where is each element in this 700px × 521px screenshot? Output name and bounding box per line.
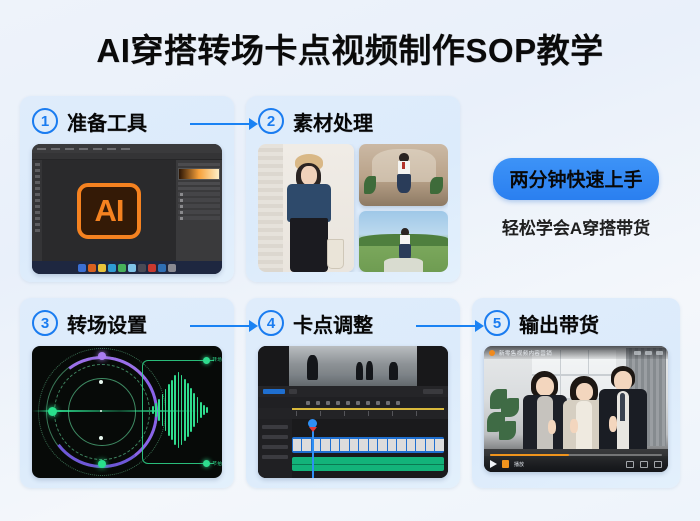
arrow-step1-to-step2: [190, 117, 258, 131]
arrow-head-icon: [475, 320, 484, 332]
arrow-shaft: [190, 325, 250, 328]
illustrator-logo-icon: AI: [77, 183, 141, 239]
video-player[interactable]: 新零售视频内容营销 播放: [484, 346, 668, 472]
play-icon[interactable]: [490, 460, 497, 468]
menu-bar: [32, 144, 222, 153]
toolbar-right-chip[interactable]: [423, 389, 443, 394]
step-card-5[interactable]: 5 输出带货: [472, 298, 680, 488]
video-clip-track[interactable]: [292, 437, 444, 453]
playhead[interactable]: [312, 421, 314, 478]
active-tab-chip[interactable]: [263, 389, 285, 394]
arrow-step4-to-step5: [416, 319, 484, 333]
pip-icon: [640, 461, 648, 468]
video-timeline-thumbnail: [258, 346, 448, 478]
macos-dock: [32, 261, 222, 274]
artboard-canvas: AI: [42, 160, 176, 261]
marker-line: [292, 408, 444, 410]
preview-frame: [289, 346, 417, 386]
video-editor-window: [258, 346, 448, 478]
outfit-photo-main: [258, 144, 354, 272]
top-bar-actions[interactable]: [634, 351, 663, 355]
outfit-photos-thumbnail: [258, 144, 448, 272]
audio-clip-track[interactable]: [292, 457, 444, 471]
video-title: 新零售视频内容营销: [499, 349, 552, 357]
scene-figure: [307, 355, 319, 380]
radar-marker-top: [98, 352, 106, 360]
arrow-step3-to-step4: [190, 319, 258, 333]
livestream-player-thumbnail: 新零售视频内容营销 播放: [484, 346, 668, 472]
signal-label-top: 转场: [212, 357, 222, 363]
timeline-ruler[interactable]: [258, 408, 448, 419]
record-indicator-icon: [489, 350, 495, 356]
arrow-shaft: [416, 325, 476, 328]
preview-monitor: [258, 346, 448, 386]
step-title: 素材处理: [293, 107, 373, 136]
step-number-badge: 3: [32, 310, 58, 336]
page-title: AI穿搭转场卡点视频制作SOP教学: [0, 24, 700, 72]
transition-radar-thumbnail: 转场 节拍: [32, 346, 222, 478]
scene-figure: [366, 361, 374, 380]
tool-row[interactable]: [258, 397, 448, 408]
promo-pill-badge: 两分钟快速上手: [493, 158, 658, 200]
step-header: 5 输出带货: [484, 308, 668, 338]
quality-badge-icon[interactable]: [502, 460, 509, 468]
tab-chip[interactable]: [289, 389, 297, 394]
step-header: 2 素材处理: [258, 106, 448, 136]
step-number-badge: 1: [32, 108, 58, 134]
arrow-head-icon: [249, 118, 258, 130]
step-number-badge: 4: [258, 310, 284, 336]
outfit-photo-secondary: [359, 144, 448, 206]
timeline-tracks[interactable]: [258, 419, 448, 478]
step-title: 转场设置: [67, 309, 147, 338]
radar-marker-left: [48, 407, 57, 416]
radar-visualization: 转场 节拍: [32, 346, 222, 478]
scene-figure: [356, 362, 364, 380]
illustrator-workspace-thumbnail: AI: [32, 144, 222, 274]
signal-label-bottom: 节拍: [212, 461, 222, 467]
scene-figure: [389, 362, 398, 380]
fullscreen-icon: [654, 461, 662, 468]
outfit-photo-stack: [359, 144, 448, 272]
signal-node-bottom: [203, 460, 210, 467]
player-controls[interactable]: 播放: [484, 456, 668, 472]
step-title: 卡点调整: [293, 309, 373, 338]
track-headers[interactable]: [258, 419, 292, 478]
radar-center-point: [100, 410, 102, 412]
step-title: 输出带货: [519, 309, 599, 338]
arrow-head-icon: [249, 320, 258, 332]
document-tab-bar: [32, 153, 222, 160]
panel-column: [176, 160, 222, 261]
player-right-controls[interactable]: [626, 461, 662, 468]
signal-node-top: [203, 357, 210, 364]
radar-keypoint-upper: [99, 380, 103, 384]
editor-toolbar[interactable]: [258, 386, 448, 397]
promo-callout: 两分钟快速上手 轻松学会A穿搭带货: [472, 158, 680, 239]
step-number-badge: 2: [258, 108, 284, 134]
arrow-shaft: [190, 123, 250, 126]
settings-icon: [626, 461, 634, 468]
presenter-right: [598, 366, 648, 449]
player-status-text: 播放: [514, 461, 524, 468]
workspace-body: AI: [32, 160, 222, 261]
tool-palette: [32, 160, 42, 261]
gradient-swatch: [178, 168, 220, 180]
audio-waveform: [152, 372, 208, 448]
promo-subtitle: 轻松学会A穿搭带货: [472, 214, 680, 239]
scene-plant: [486, 389, 523, 447]
outfit-photo-tertiary: [359, 211, 448, 273]
illustrator-window: AI: [32, 144, 222, 274]
playhead-marker-icon: [309, 427, 317, 432]
step-title: 准备工具: [67, 107, 147, 136]
radar-marker-bottom: [98, 460, 106, 468]
step-card-2[interactable]: 2 素材处理: [246, 96, 460, 282]
player-top-bar: 新零售视频内容营销: [484, 346, 668, 359]
step-number-badge: 5: [484, 310, 510, 336]
radar-keypoint-lower: [99, 436, 103, 440]
